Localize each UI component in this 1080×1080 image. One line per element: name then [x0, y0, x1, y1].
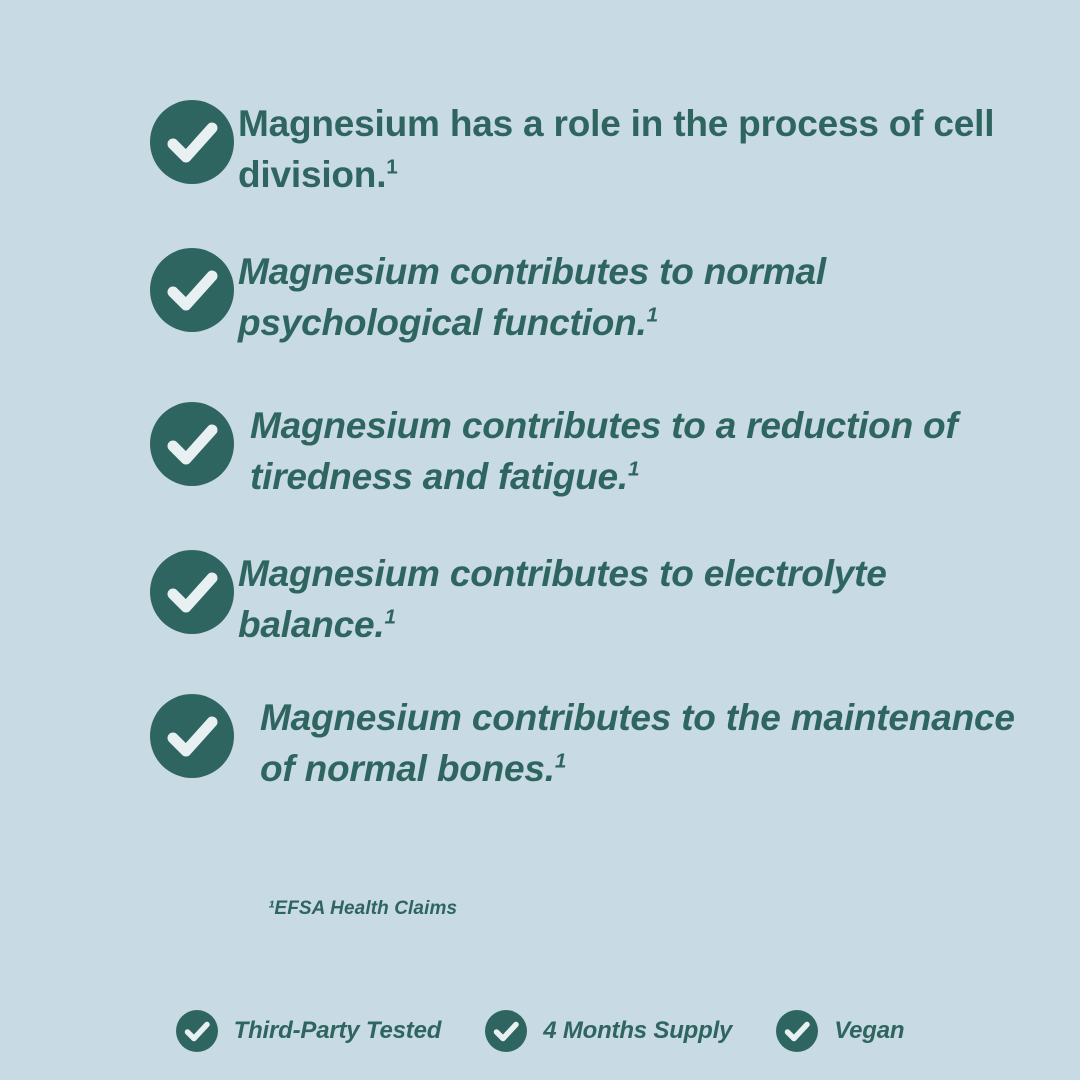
badge-label: 4 Months Supply — [543, 1017, 732, 1045]
check-circle-icon — [150, 402, 234, 486]
badge-row: Third-Party Tested 4 Months Supply Vegan — [0, 1010, 1080, 1052]
claim-text: Magnesium contributes to electrolyte bal… — [238, 546, 1030, 650]
claim-text-body: Magnesium contributes to normal psycholo… — [238, 251, 826, 343]
claim-superscript: 1 — [555, 750, 566, 773]
claim-superscript: 1 — [628, 458, 639, 481]
status-badge: Third-Party Tested — [176, 1010, 442, 1052]
claim-text: Magnesium contributes to normal psycholo… — [238, 244, 1030, 348]
claim-superscript: 1 — [647, 304, 658, 327]
claim-text: Magnesium has a role in the process of c… — [238, 96, 1030, 200]
claim-text: Magnesium contributes to a reduction of … — [238, 398, 1030, 502]
check-circle-icon — [176, 1010, 218, 1052]
list-item: Magnesium has a role in the process of c… — [150, 96, 1030, 200]
check-circle-icon — [485, 1010, 527, 1052]
check-circle-icon — [150, 694, 234, 778]
claim-text-body: Magnesium contributes to electrolyte bal… — [238, 553, 887, 645]
claim-text: Magnesium contributes to the maintenance… — [238, 690, 1030, 794]
badge-label: Vegan — [834, 1017, 904, 1045]
list-item: Magnesium contributes to electrolyte bal… — [150, 546, 1030, 650]
list-item: Magnesium contributes to a reduction of … — [150, 398, 1030, 502]
claim-text-body: Magnesium has a role in the process of c… — [238, 103, 994, 195]
check-circle-icon — [150, 550, 234, 634]
list-item: Magnesium contributes to normal psycholo… — [150, 244, 1030, 348]
product-benefits-panel: Magnesium has a role in the process of c… — [0, 0, 1080, 1080]
footnote: ¹EFSA Health Claims — [268, 898, 457, 920]
check-circle-icon — [776, 1010, 818, 1052]
claim-superscript: 1 — [384, 606, 395, 629]
check-circle-icon — [150, 100, 234, 184]
list-item: Magnesium contributes to the maintenance… — [150, 690, 1030, 794]
check-circle-icon — [150, 248, 234, 332]
claim-text-body: Magnesium contributes to the maintenance… — [260, 697, 1015, 789]
badge-label: Third-Party Tested — [234, 1017, 442, 1045]
claim-superscript: 1 — [386, 156, 397, 179]
claims-list: Magnesium has a role in the process of c… — [150, 96, 1030, 831]
status-badge: 4 Months Supply — [485, 1010, 732, 1052]
claim-text-body: Magnesium contributes to a reduction of … — [250, 405, 958, 497]
status-badge: Vegan — [776, 1010, 904, 1052]
